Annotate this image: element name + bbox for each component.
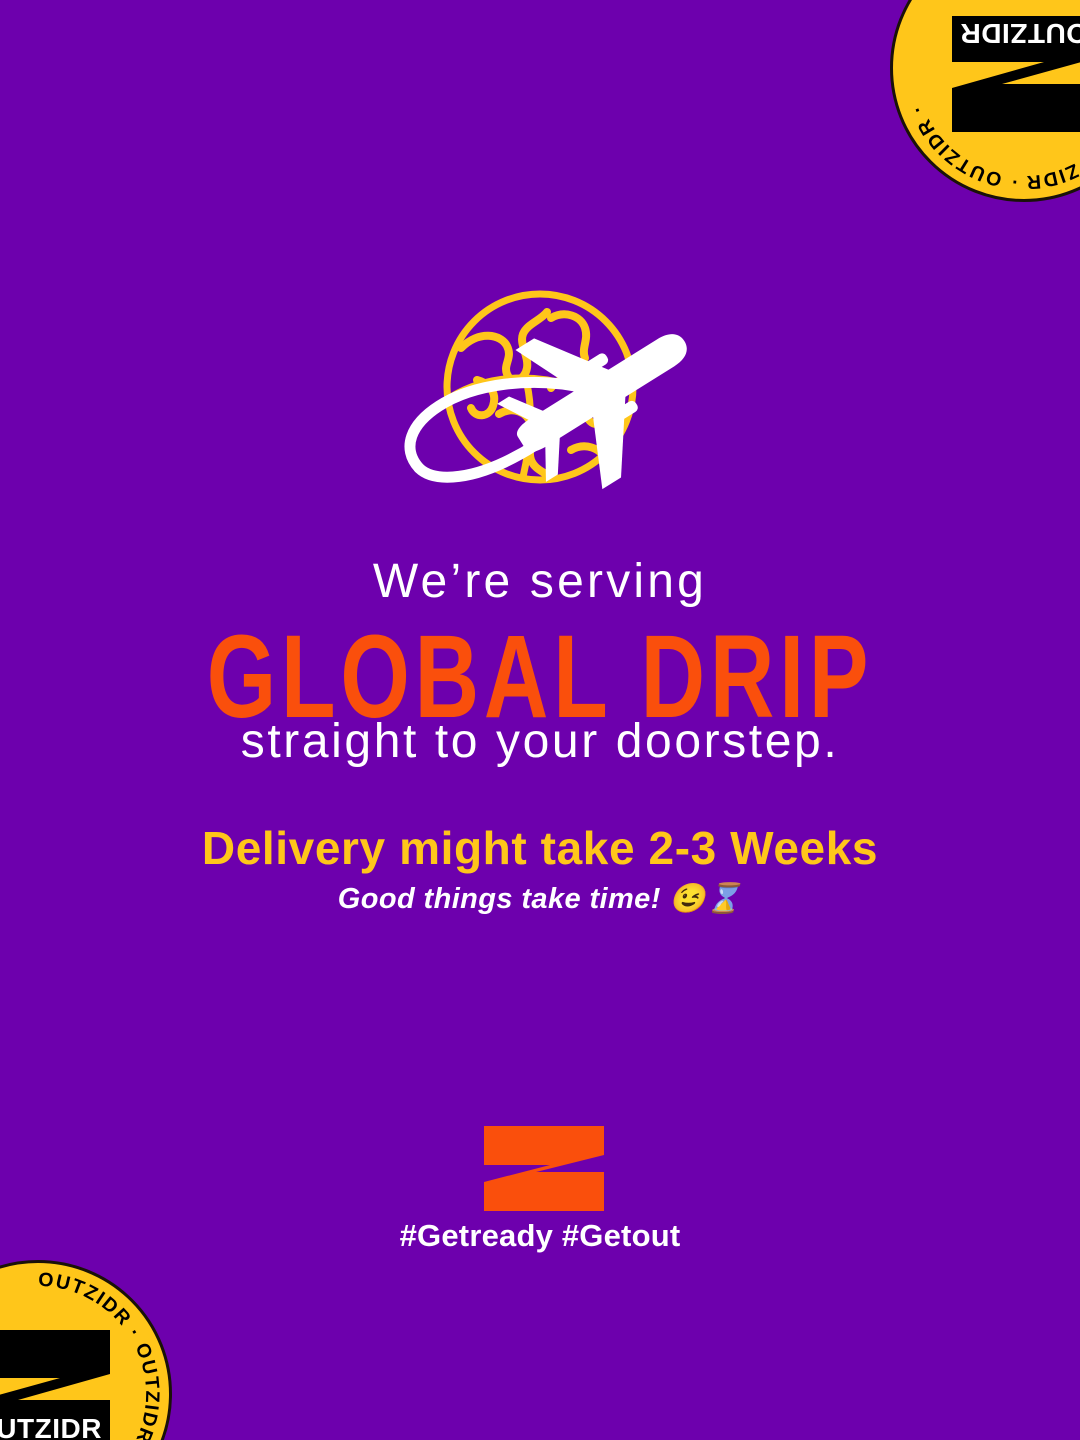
hashtags-text: #Getready #Getout [0,1218,1080,1254]
globe-with-airplane-icon [355,272,715,517]
outzidr-z-logo [484,1126,604,1211]
promo-poster: OUTZIDR · OUTZIDR · OUTZIDR · OUTZIDR · … [0,0,1080,1440]
badge-z-mark-top-right: OUTZIDR [938,0,1080,154]
badge-z-mark-bottom-left: OUTZIDR [0,1308,124,1440]
badge-brand-label-top-right: OUTZIDR [960,18,1080,49]
reassurance-text: Good things take time! 😉⌛ [0,882,1080,917]
subhead-text: straight to your doorstep. [0,716,1080,769]
outzidr-badge-top-right: OUTZIDR · OUTZIDR · OUTZIDR · OUTZIDR · … [890,0,1080,202]
outzidr-badge-bottom-left: OUTZIDR · OUTZIDR · OUTZIDR · OUTZIDR · … [0,1260,172,1440]
badge-brand-label-bottom-left: OUTZIDR [0,1413,102,1440]
delivery-estimate-text: Delivery might take 2-3 Weeks [0,822,1080,875]
kicker-text: We’re serving [0,556,1080,609]
